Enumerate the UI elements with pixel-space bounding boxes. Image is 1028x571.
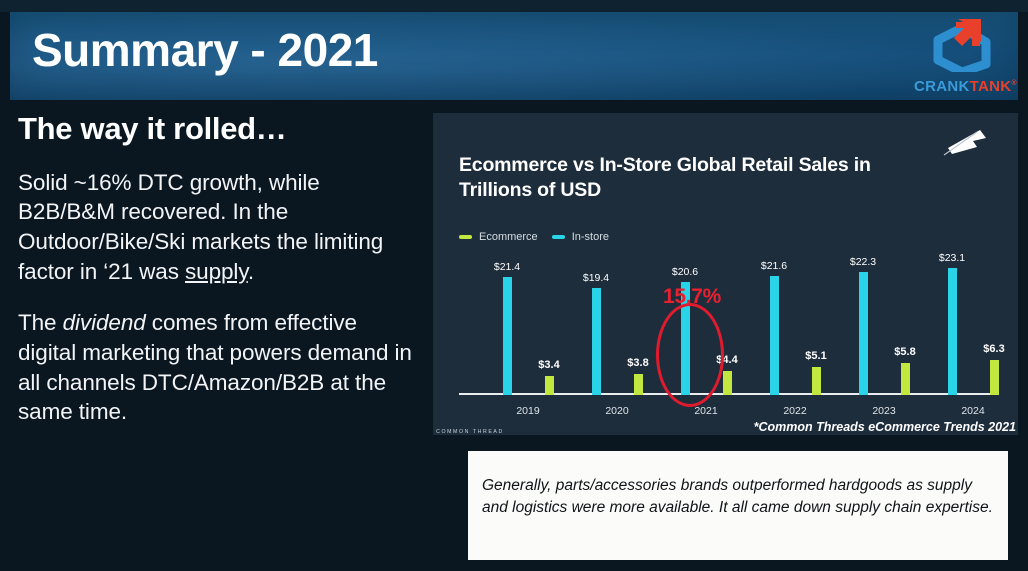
wordmark-trademark: ® [1011,80,1016,87]
paragraph-two-emphasis: dividend [63,310,146,335]
page-title: Summary - 2021 [32,27,378,73]
bar-ecommerce-2024 [990,360,999,395]
x-axis-tick-2024: 2024 [961,405,984,417]
chart-legend: EcommerceIn-store [459,231,609,243]
bar-label-in-store-2024: $23.1 [939,252,965,264]
bar-in-store-2019 [503,277,512,395]
chart-plot-area: $21.4$3.42019$19.4$3.82020$20.6$4.42021$… [451,263,1003,421]
bar-label-ecommerce-2020: $3.8 [627,357,648,369]
x-axis-tick-2020: 2020 [605,405,628,417]
bar-label-in-store-2019: $21.4 [494,261,520,273]
bar-ecommerce-2021 [723,371,732,395]
bar-label-ecommerce-2019: $3.4 [538,359,559,371]
bar-in-store-2020 [592,288,601,395]
header-top-strip [0,0,1028,12]
bar-ecommerce-2023 [901,363,910,395]
bar-label-in-store-2021: $20.6 [672,266,698,278]
chart-panel: COMMON THREAD Ecommerce vs In-Store Glob… [433,113,1018,435]
cranktank-mark-icon [928,16,998,72]
bar-label-in-store-2023: $22.3 [850,256,876,268]
common-thread-wordmark: COMMON THREAD [433,429,507,435]
bar-ecommerce-2022 [812,367,821,395]
chart-title: Ecommerce vs In-Store Global Retail Sale… [459,153,899,202]
paragraph-one: Solid ~16% DTC growth, while B2B/B&M rec… [18,168,418,287]
x-axis-tick-2023: 2023 [872,405,895,417]
legend-label: Ecommerce [479,231,538,243]
bar-ecommerce-2020 [634,374,643,395]
paragraph-two-text-a: The [18,310,63,335]
bar-in-store-2024 [948,268,957,395]
legend-swatch-icon [552,235,565,239]
bar-label-in-store-2020: $19.4 [583,272,609,284]
cranktank-logo: CRANKTANK® [914,14,1010,98]
legend-item-ecommerce: Ecommerce [459,231,538,243]
x-axis-tick-2019: 2019 [516,405,539,417]
bar-in-store-2023 [859,272,868,395]
legend-label: In-store [572,231,609,243]
paragraph-two: The dividend comes from effective digita… [18,308,418,427]
bar-label-ecommerce-2024: $6.3 [983,343,1004,355]
x-axis-tick-2022: 2022 [783,405,806,417]
callout-box: Generally, parts/accessories brands outp… [468,451,1008,560]
legend-swatch-icon [459,235,472,239]
slide-canvas: Summary - 2021 CRANKTANK® The way it rol… [0,0,1028,571]
callout-text: Generally, parts/accessories brands outp… [482,475,994,519]
common-thread-logo [928,127,1002,161]
section-heading: The way it rolled… [18,113,418,146]
bar-label-ecommerce-2023: $5.8 [894,346,915,358]
cranktank-wordmark: CRANKTANK® [914,79,1010,94]
bar-ecommerce-2019 [545,376,554,395]
wordmark-crank: CRANK [914,78,970,95]
paragraph-one-text-b: . [248,259,254,284]
bar-label-in-store-2022: $21.6 [761,260,787,272]
left-content-column: The way it rolled… Solid ~16% DTC growth… [18,113,418,427]
highlight-ellipse-annotation [656,303,724,407]
growth-percent-annotation: 15.7% [663,285,721,309]
legend-item-in-store: In-store [552,231,609,243]
paragraph-one-emphasis: supply [185,259,248,284]
chart-source-footnote: *Common Threads eCommerce Trends 2021 [754,420,1016,434]
x-axis-tick-2021: 2021 [694,405,717,417]
wordmark-tank: TANK [970,78,1012,95]
bar-label-ecommerce-2022: $5.1 [805,350,826,362]
bar-in-store-2022 [770,276,779,395]
